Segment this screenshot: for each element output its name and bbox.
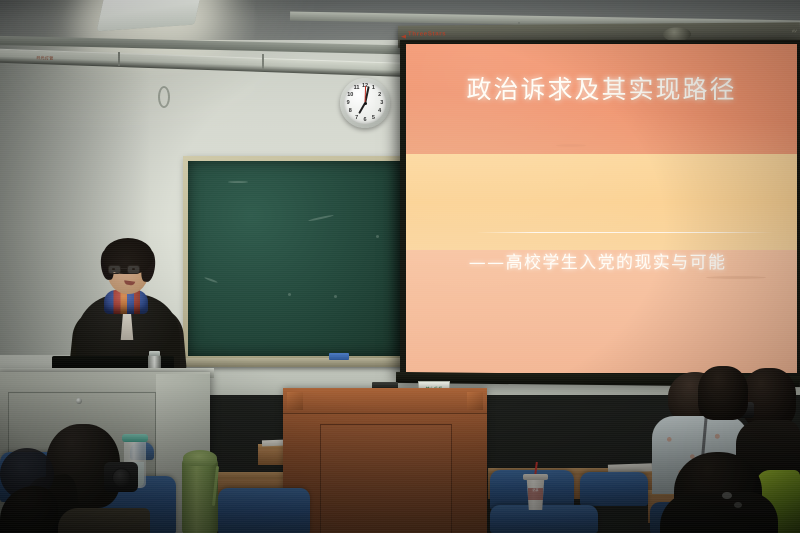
lectern-corner-right (467, 392, 483, 410)
attendee-head (698, 366, 748, 420)
chalk-tray (178, 358, 410, 367)
clock-number: 10 (347, 92, 353, 98)
hair-clip-icon-2 (734, 502, 742, 508)
lecture-hall-photo: 日光灯管 日光灯管 12 1 2 3 4 5 6 7 8 9 10 11 (0, 0, 800, 533)
projection-screen: 政治诉求及其实现路径 ——高校学生入党的现实与可能 (400, 40, 800, 380)
presenter-eye-right (132, 268, 135, 270)
attendee-foreground-right (660, 452, 778, 533)
clock-number: 11 (354, 85, 360, 91)
clock-number: 4 (378, 108, 381, 114)
lectern-top-rail (283, 388, 487, 414)
clock-number: 6 (363, 117, 366, 123)
projector-brand-label: ThreeStars (408, 31, 446, 37)
attendee-head (742, 368, 796, 428)
cup-label: 奶茶 (528, 488, 543, 500)
blackboard (183, 156, 405, 361)
slide-title: 政治诉求及其实现路径 (406, 70, 797, 106)
clock-center-pin (364, 102, 367, 105)
blackboard-surface (188, 161, 400, 356)
slide-divider-rule (476, 232, 773, 233)
clock-number: 1 (372, 85, 375, 91)
camera-lens-icon (112, 468, 131, 487)
clock-number: 3 (380, 100, 383, 106)
brand-mark-icon (401, 35, 406, 39)
desk-latch-icon (76, 398, 82, 404)
attendee-far-right (686, 366, 748, 418)
fixture-label: 日光灯管 (36, 55, 54, 62)
cup-lid (523, 474, 548, 480)
lectern-corner-left (287, 392, 303, 410)
light-hanger (262, 54, 264, 69)
clock-face: 12 1 2 3 4 5 6 7 8 9 10 11 (344, 82, 386, 124)
eyeglass-bridge (121, 268, 127, 269)
clock-number: 8 (349, 108, 352, 114)
light-hanger (118, 52, 120, 66)
hanging-loop (158, 86, 170, 108)
wall-clock: 12 1 2 3 4 5 6 7 8 9 10 11 (340, 78, 390, 128)
attendee-left-silhouette (0, 486, 58, 533)
hair-clip-icon (722, 492, 732, 499)
seat[interactable] (580, 472, 648, 506)
seat[interactable] (218, 488, 310, 533)
clock-number: 7 (355, 115, 358, 121)
attendee-body (0, 486, 58, 533)
lectern-front-panel (320, 424, 452, 533)
attendee-shoulders (660, 492, 778, 533)
housing-right-label: AV (792, 28, 797, 33)
clock-number: 5 (372, 115, 375, 121)
bag-cinched-top (183, 450, 217, 466)
papers-on-desk-far (262, 440, 284, 447)
chalk-eraser-icon (329, 353, 349, 360)
slide-subtitle: ——高校学生入党的现实与可能 (406, 248, 789, 273)
slide-band-middle (406, 154, 797, 249)
clock-number: 2 (378, 92, 381, 98)
bottle-cap (149, 351, 160, 356)
projection-surface: 政治诉求及其实现路径 ——高校学生入党的现实与可能 (406, 44, 797, 373)
presenter (74, 238, 182, 373)
attendee-shoulders (58, 508, 150, 533)
clock-number: 9 (347, 100, 350, 106)
presenter-eye-left (112, 268, 115, 270)
seat[interactable] (490, 505, 598, 533)
